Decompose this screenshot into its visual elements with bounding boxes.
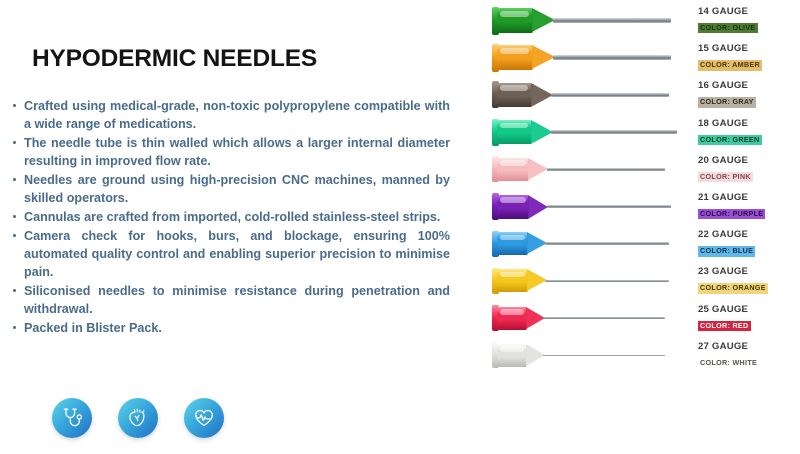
needle-row: 22 GAUGECOLOR: BLUE [470, 225, 800, 262]
needle-cannula [553, 18, 671, 23]
feature-item: Packed in Blister Pack. [10, 319, 450, 337]
needle-cannula [543, 355, 665, 356]
gauge-text: 27 GAUGE [698, 341, 794, 352]
needle-hub-taper [532, 8, 555, 32]
needle-hub-highlight [500, 11, 529, 17]
feature-item-text: The needle tube is thin walled which all… [24, 134, 450, 170]
gauge-text: 14 GAUGE [698, 6, 794, 17]
needle-color-bar: COLOR: RED [698, 321, 751, 331]
feature-item-text: Camera check for hooks, burs, and blocka… [24, 227, 450, 281]
needle-label: 22 GAUGECOLOR: BLUE [698, 229, 794, 258]
needle-hub-highlight [500, 235, 525, 241]
needle-gauge-chart: 14 GAUGECOLOR: OLIVE15 GAUGECOLOR: AMBER… [470, 0, 800, 372]
needle-hub-taper [528, 158, 548, 180]
needle-hub-taper [527, 232, 547, 254]
needle-hub-highlight [500, 48, 529, 54]
feature-item-text: Cannulas are crafted from imported, cold… [24, 208, 450, 226]
gauge-text: 20 GAUGE [698, 155, 794, 166]
needle-row: 27 GAUGECOLOR: WHITE [470, 337, 800, 374]
anatomical-heart-glyph [125, 405, 151, 431]
gauge-text: 15 GAUGE [698, 43, 794, 54]
right-content-column: 14 GAUGECOLOR: OLIVE15 GAUGECOLOR: AMBER… [470, 0, 800, 454]
needle-row: 21 GAUGECOLOR: PURPLE [470, 188, 800, 225]
feature-item-text: Crafted using medical-grade, non-toxic p… [24, 97, 450, 133]
feature-item: Crafted using medical-grade, non-toxic p… [10, 97, 450, 133]
needle-row: 15 GAUGECOLOR: AMBER [470, 39, 800, 76]
needle-hub-taper [531, 83, 553, 107]
needle-color-bar: COLOR: GREEN [698, 135, 762, 145]
stethoscope-glyph [59, 405, 85, 431]
product-infographic: HYPODERMIC NEEDLES Crafted using medical… [0, 0, 800, 454]
gauge-text: 23 GAUGE [698, 266, 794, 277]
feature-item-text: Packed in Blister Pack. [24, 319, 450, 337]
needle-cannula [547, 205, 671, 208]
page-title: HYPODERMIC NEEDLES [32, 45, 317, 73]
needle-cannula [543, 317, 665, 319]
needle-hub-taper [532, 45, 555, 69]
needle-hub-highlight [500, 309, 524, 315]
needle-color-bar: COLOR: BLUE [698, 246, 755, 256]
needle-hub-highlight [500, 85, 528, 91]
needle-label: 14 GAUGECOLOR: OLIVE [698, 6, 794, 35]
needle-label: 25 GAUGECOLOR: RED [698, 304, 794, 333]
needle-color-bar: COLOR: GRAY [698, 97, 756, 107]
heartbeat-glyph [191, 405, 217, 431]
feature-item: Needles are ground using high-precision … [10, 171, 450, 207]
anatomical-heart-icon[interactable] [118, 398, 158, 438]
needle-row: 25 GAUGECOLOR: RED [470, 300, 800, 337]
gauge-text: 25 GAUGE [698, 304, 794, 315]
needle-color-bar: COLOR: WHITE [698, 358, 759, 368]
needle-row: 16 GAUGECOLOR: GRAY [470, 76, 800, 113]
needle-hub-taper [526, 344, 545, 366]
needle-label: 16 GAUGECOLOR: GRAY [698, 80, 794, 109]
needle-cannula [551, 130, 677, 134]
gauge-text: 21 GAUGE [698, 192, 794, 203]
needle-row: 23 GAUGECOLOR: ORANGE [470, 262, 800, 299]
needle-hub-highlight [500, 272, 525, 278]
needle-cannula [551, 93, 669, 97]
needle-hub-highlight [500, 123, 528, 129]
needle-hub-highlight [500, 346, 524, 352]
needle-color-bar: COLOR: PURPLE [698, 209, 765, 219]
feature-item-text: Siliconised needles to minimise resistan… [24, 282, 450, 318]
needle-label: 23 GAUGECOLOR: ORANGE [698, 266, 794, 295]
feature-item-text: Needles are ground using high-precision … [24, 171, 450, 207]
medical-icon-row [52, 398, 224, 438]
feature-item: Cannulas are crafted from imported, cold… [10, 208, 450, 226]
needle-label: 15 GAUGECOLOR: AMBER [698, 43, 794, 72]
gauge-text: 22 GAUGE [698, 229, 794, 240]
needle-color-bar: COLOR: ORANGE [698, 283, 768, 293]
needle-hub-taper [531, 120, 553, 144]
needle-hub-taper [527, 269, 547, 291]
needle-cannula [553, 55, 671, 60]
needle-cannula [545, 280, 669, 282]
needle-row: 18 GAUGECOLOR: GREEN [470, 114, 800, 151]
needle-label: 20 GAUGECOLOR: PINK [698, 155, 794, 184]
feature-item: Camera check for hooks, burs, and blocka… [10, 227, 450, 281]
needle-row: 20 GAUGECOLOR: PINK [470, 151, 800, 188]
gauge-text: 18 GAUGE [698, 118, 794, 129]
feature-item: The needle tube is thin walled which all… [10, 134, 450, 170]
needle-color-bar: COLOR: AMBER [698, 60, 762, 70]
needle-label: 18 GAUGECOLOR: GREEN [698, 118, 794, 147]
needle-cannula [545, 242, 669, 244]
left-content-column: HYPODERMIC NEEDLES Crafted using medical… [0, 0, 470, 454]
needle-hub-highlight [500, 197, 526, 203]
needle-row: 14 GAUGECOLOR: OLIVE [470, 2, 800, 39]
needle-label: 27 GAUGECOLOR: WHITE [698, 341, 794, 370]
needle-cannula [547, 168, 665, 171]
gauge-text: 16 GAUGE [698, 80, 794, 91]
feature-list: Crafted using medical-grade, non-toxic p… [10, 97, 450, 338]
needle-color-bar: COLOR: PINK [698, 172, 753, 182]
feature-item: Siliconised needles to minimise resistan… [10, 282, 450, 318]
needle-color-bar: COLOR: OLIVE [698, 23, 758, 33]
needle-label: 21 GAUGECOLOR: PURPLE [698, 192, 794, 221]
needle-hub-taper [526, 307, 545, 329]
needle-hub-highlight [500, 160, 526, 166]
heartbeat-icon[interactable] [184, 398, 224, 438]
needle-hub-taper [528, 195, 548, 219]
stethoscope-icon[interactable] [52, 398, 92, 438]
